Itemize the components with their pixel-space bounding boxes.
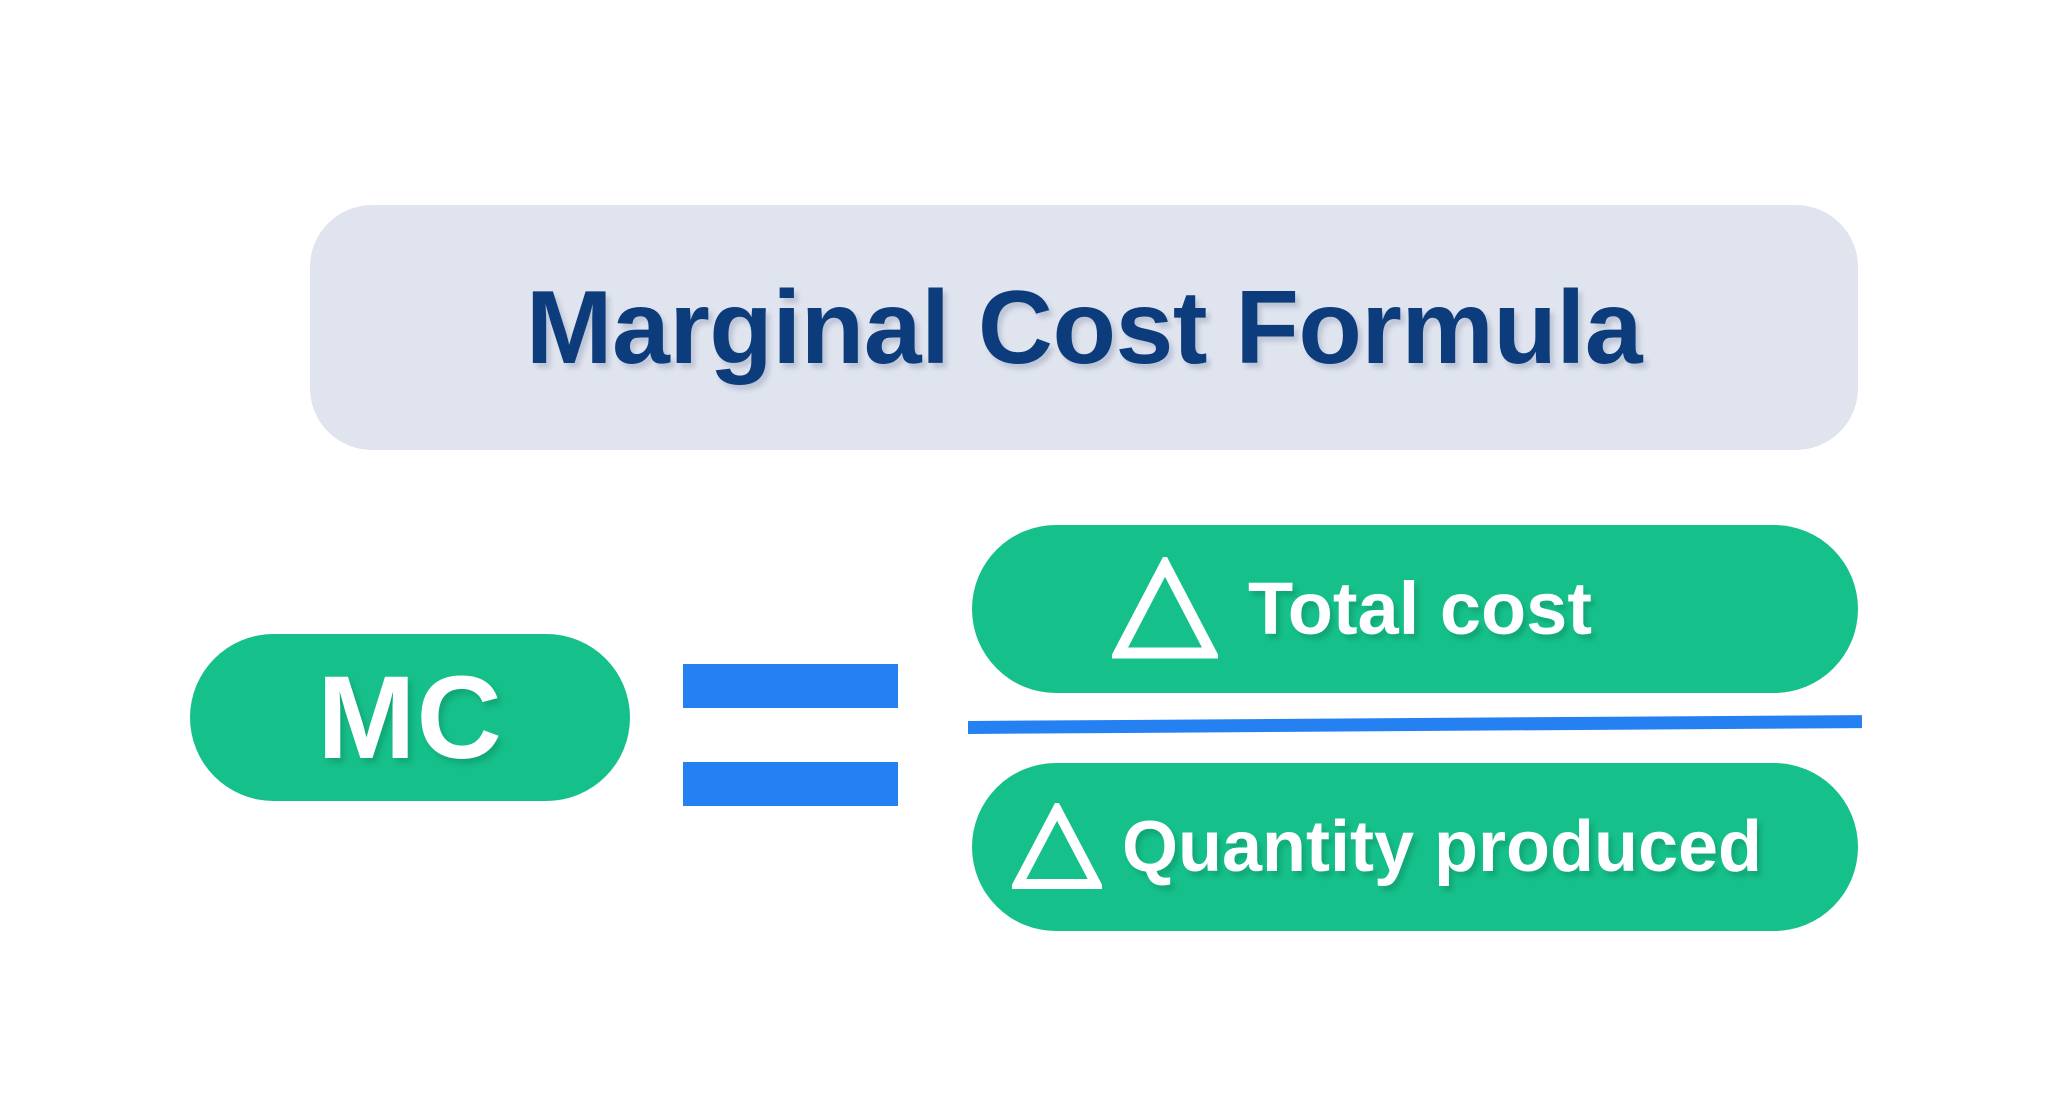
formula-graphic: Marginal Cost Formula MC Total cost Quan… bbox=[0, 0, 2061, 1097]
marginal-cost-term-pill: MC bbox=[190, 634, 630, 801]
title-pill: Marginal Cost Formula bbox=[310, 205, 1858, 450]
fraction: Total cost Quantity produced bbox=[972, 525, 1858, 931]
equals-sign bbox=[683, 664, 898, 806]
fraction-divider-line bbox=[968, 715, 1862, 734]
marginal-cost-label: MC bbox=[317, 659, 503, 777]
delta-triangle-icon bbox=[1012, 803, 1102, 891]
denominator-pill: Quantity produced bbox=[972, 763, 1858, 931]
numerator-pill: Total cost bbox=[972, 525, 1858, 693]
delta-triangle-icon bbox=[1112, 557, 1218, 661]
denominator-label: Quantity produced bbox=[1122, 811, 1762, 883]
page-title: Marginal Cost Formula bbox=[526, 276, 1642, 380]
equals-bar-top bbox=[683, 664, 898, 708]
numerator-label: Total cost bbox=[1248, 572, 1592, 646]
equals-bar-bottom bbox=[683, 762, 898, 806]
